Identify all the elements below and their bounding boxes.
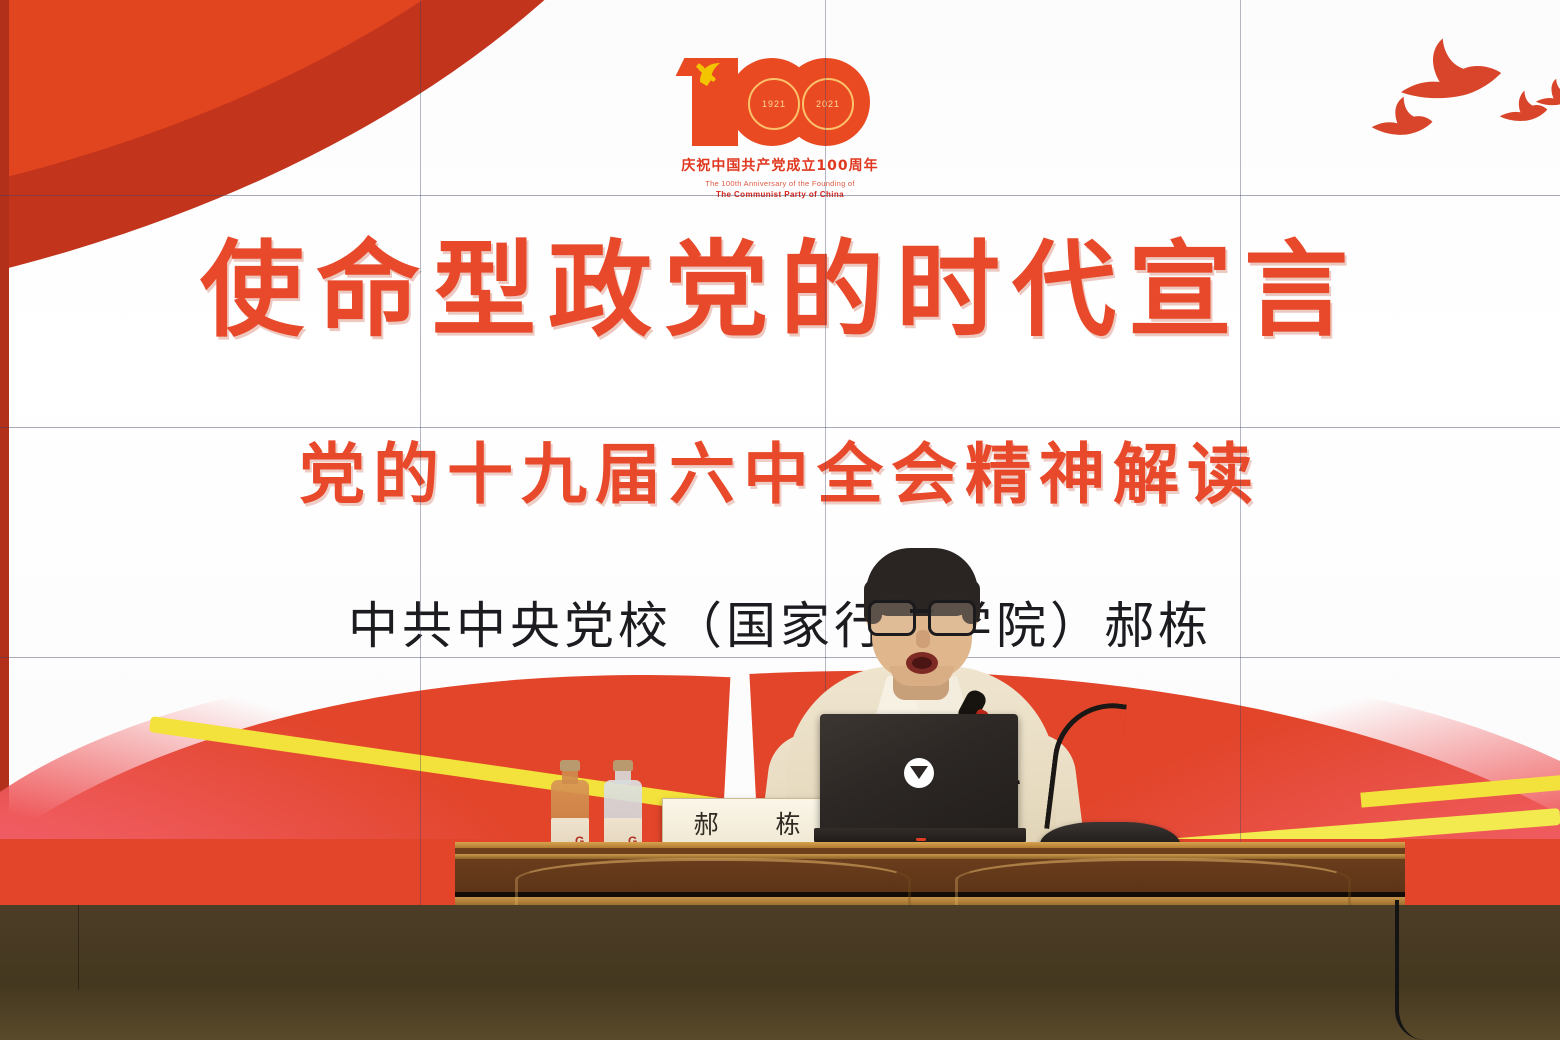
hammer-and-sickle-icon xyxy=(696,60,732,95)
logo-english-caption-line1: The 100th Anniversary of the Founding of xyxy=(705,179,855,188)
power-cable xyxy=(1395,900,1435,1040)
glasses-lens-left xyxy=(868,600,916,636)
laptop-power-led xyxy=(916,838,926,841)
logo-100-numeral: 1921 2021 xyxy=(690,52,870,152)
panel-seam-horizontal-1 xyxy=(0,195,1560,196)
laptop-logo-glyph xyxy=(910,766,928,779)
speaker-nose xyxy=(916,630,930,648)
slide-title-sub: 党的十九届六中全会精神解读 xyxy=(0,442,1560,508)
podium-bevel-trim xyxy=(455,854,1405,859)
stage-base xyxy=(0,905,1560,1040)
panel-seam-vertical-1 xyxy=(420,0,421,905)
slide-title-main: 使命型政党的时代宣言 xyxy=(0,238,1560,342)
laptop-brand-logo-icon xyxy=(904,758,934,788)
anniversary-logo: 1921 2021 庆祝中国共产党成立100周年 The 100th Anniv… xyxy=(0,52,1560,199)
bottle-cap xyxy=(560,760,580,771)
logo-year-left: 1921 xyxy=(748,78,800,130)
logo-chinese-caption: 庆祝中国共产党成立100周年 xyxy=(681,155,878,175)
screenshot-root: 1921 2021 庆祝中国共产党成立100周年 The 100th Anniv… xyxy=(0,0,1560,1040)
slide-presenter-line: 中共中央党校（国家行政学院）郝栋 xyxy=(0,601,1560,651)
panel-seam-vertical-3 xyxy=(1240,0,1241,905)
panel-seam-horizontal-2 xyxy=(0,427,1560,428)
name-plate: 郝 栋 xyxy=(662,798,832,848)
glasses-lens-right xyxy=(928,600,976,636)
logo-year-right: 2021 xyxy=(802,78,854,130)
laptop[interactable] xyxy=(820,714,1018,842)
speaker-mouth-inner xyxy=(912,657,932,669)
stage-base-seam xyxy=(78,905,79,990)
panel-seam-horizontal-3 xyxy=(0,657,1560,658)
name-plate-text: 郝 栋 xyxy=(677,805,816,841)
laptop-lid xyxy=(820,714,1018,830)
bottle-cap xyxy=(613,760,633,771)
eyeglasses-icon xyxy=(868,600,976,630)
